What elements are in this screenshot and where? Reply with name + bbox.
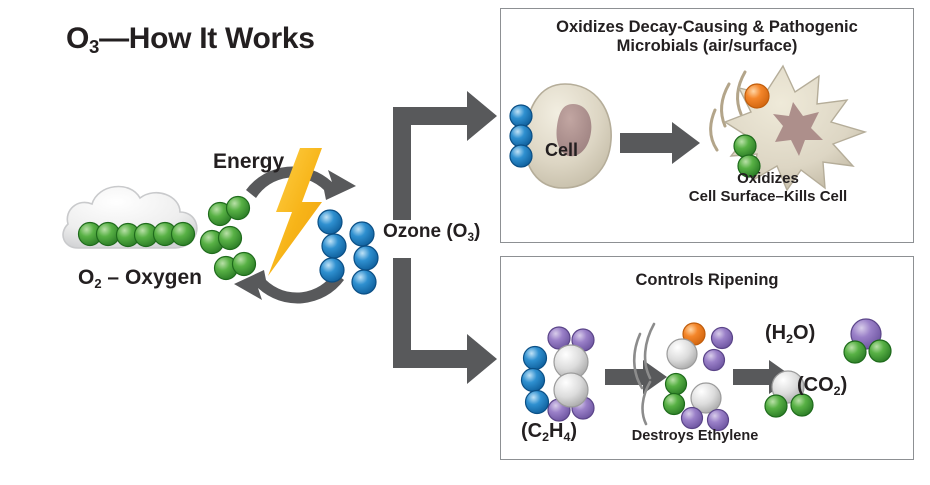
infographic-canvas: O3—How It Works <box>0 0 930 485</box>
energy-label: Energy <box>213 150 284 174</box>
fragment-motion-lines <box>634 324 654 424</box>
ozone-label-tail: ) <box>474 221 480 242</box>
oxidizes-caption: Oxidizes Cell Surface–Kills Cell <box>668 170 868 206</box>
carbon-dioxide-formula: (CO2) <box>797 374 847 397</box>
hydrogen-atom-green <box>869 340 891 362</box>
cell-label: Cell <box>545 140 578 161</box>
oxygen-label-subscript: 2 <box>94 276 101 291</box>
hydrogen-atom-green <box>844 341 866 363</box>
ethylene-formula-close: ) <box>570 420 577 442</box>
ethylene-formula-open: (C <box>521 420 542 442</box>
panel-top-title-line1: Oxidizes Decay-Causing & Pathogenic <box>501 18 913 37</box>
hydrogen-atom <box>712 328 733 349</box>
ethylene-formula-mid: H <box>549 420 563 442</box>
o3-molecule-reactant <box>522 347 549 414</box>
oxidizes-caption-line2: Cell Surface–Kills Cell <box>668 188 868 206</box>
o3-molecule-attached <box>510 105 532 167</box>
ozone-label-subscript: 3 <box>467 231 474 244</box>
carbon-atom <box>667 339 697 369</box>
o3-molecule-group <box>318 210 378 294</box>
oxygen-label: O2 – Oxygen <box>78 266 202 290</box>
destroys-ethylene-caption: Destroys Ethylene <box>620 428 770 445</box>
ethylene-fragments-illustration <box>628 320 748 430</box>
panel-bottom-title: Controls Ripening <box>501 271 913 290</box>
panel-top-title-line2: Microbials (air/surface) <box>501 37 913 56</box>
o2-molecule-group-free <box>201 197 256 280</box>
water-formula-close: O) <box>793 322 815 344</box>
page-title-main: —How It Works <box>99 22 315 55</box>
ozone-label: Ozone (O3) <box>383 221 480 243</box>
oxygen-atom <box>765 395 787 417</box>
oxidizes-caption-line1: Oxidizes <box>668 170 868 188</box>
page-title: O3—How It Works <box>66 22 315 56</box>
oxygen-atom <box>666 374 687 395</box>
carbon-atom <box>554 373 588 407</box>
water-molecule-illustration <box>842 318 904 364</box>
page-title-prefix: O <box>66 22 89 55</box>
water-formula-sub: 2 <box>786 332 793 346</box>
panel-top-title: Oxidizes Decay-Causing & Pathogenic Micr… <box>501 18 913 57</box>
ethylene-sub-1: 2 <box>542 430 549 444</box>
page-title-subscript: 3 <box>89 36 99 57</box>
ethylene-sub-2: 4 <box>563 430 570 444</box>
water-formula-open: (H <box>765 322 786 344</box>
co2-formula-open: (CO <box>797 374 834 396</box>
oxygen-label-tail: – Oxygen <box>102 266 202 289</box>
oxygen-atom <box>791 394 813 416</box>
co2-formula-sub: 2 <box>834 384 841 398</box>
co2-formula-close: ) <box>841 374 848 396</box>
water-formula: (H2O) <box>765 322 815 345</box>
branch-arrow-down <box>385 258 500 383</box>
oxygen-atom <box>664 394 685 415</box>
oxygen-atom-1 <box>734 135 756 157</box>
branch-arrow-up <box>385 85 500 220</box>
oxygen-label-symbol: O <box>78 266 94 289</box>
ozone-label-symbol: Ozone (O <box>383 221 467 242</box>
transform-arrow-top-panel <box>620 122 700 164</box>
hydrogen-atom <box>704 350 725 371</box>
oxidizer-orange-atom <box>745 84 769 108</box>
hydrogen-atom <box>682 408 703 429</box>
ethylene-formula: (C2H4) <box>521 420 577 443</box>
